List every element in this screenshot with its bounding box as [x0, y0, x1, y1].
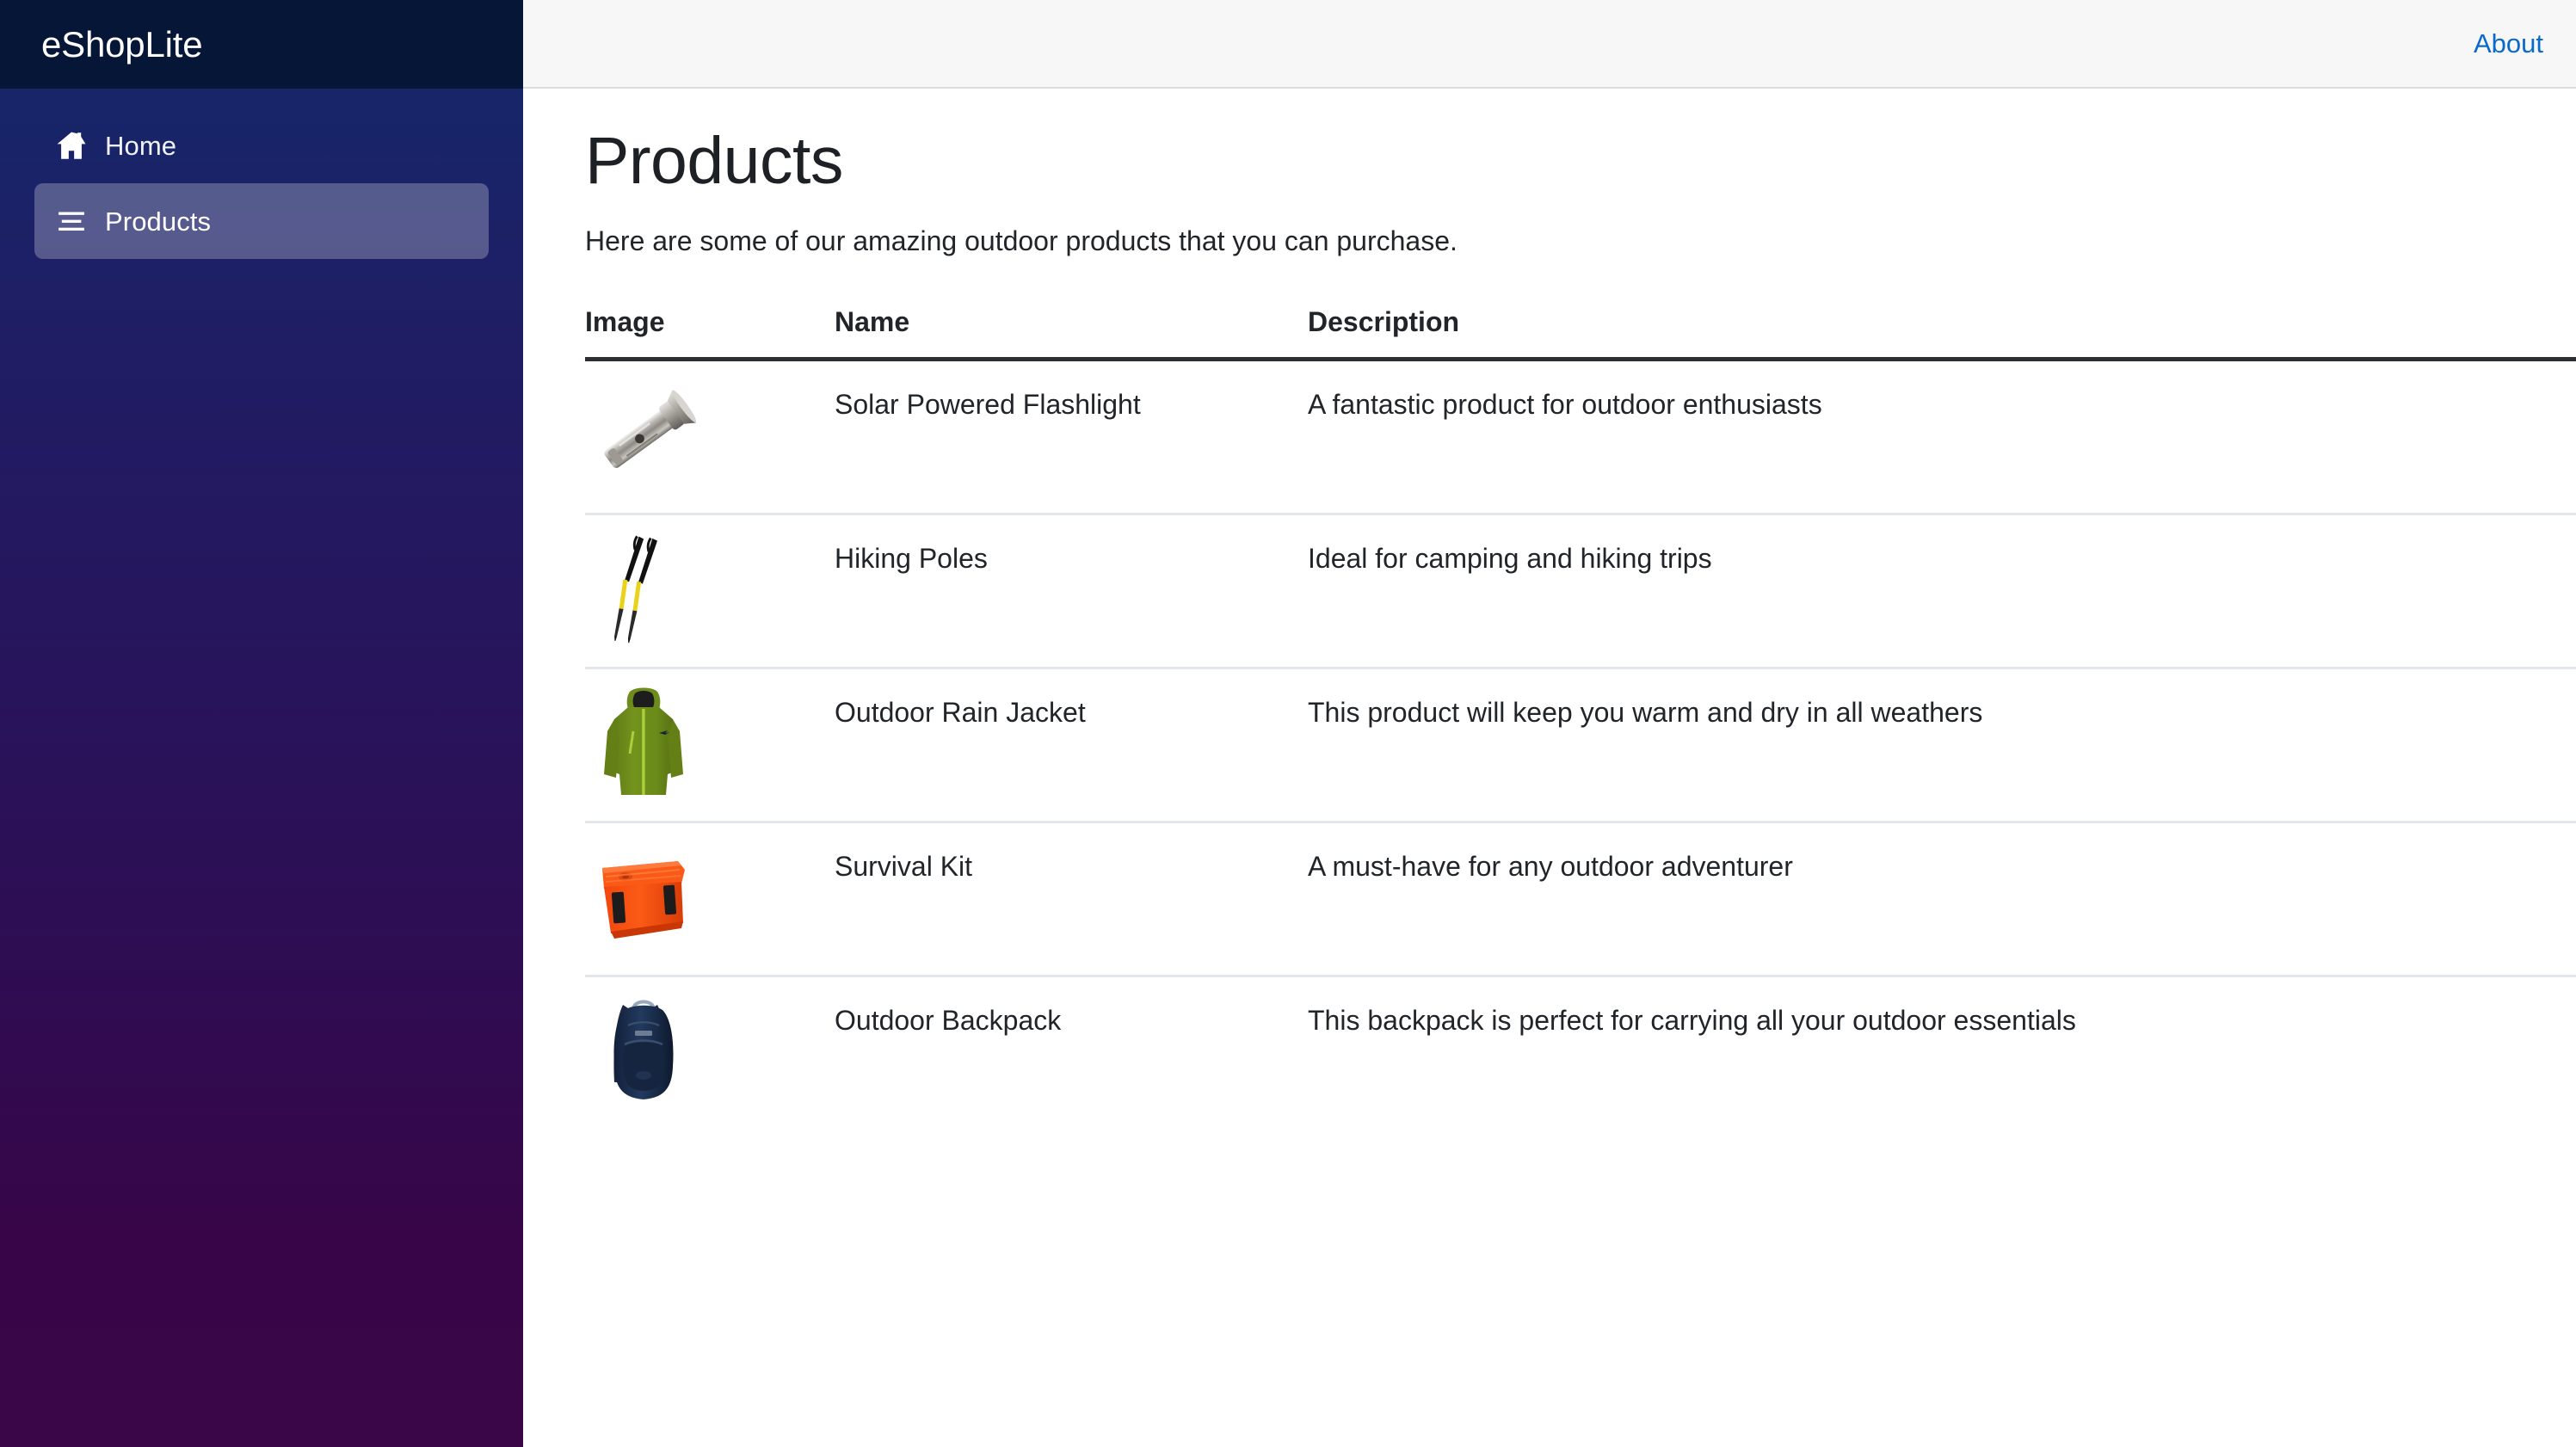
- table-row: Hiking Poles Ideal for camping and hikin…: [585, 514, 2576, 668]
- list-icon: [53, 203, 105, 239]
- product-description: A fantastic product for outdoor enthusia…: [1308, 360, 2576, 514]
- product-image-cell: [585, 822, 835, 976]
- product-description: A must-have for any outdoor adventurer: [1308, 822, 2576, 976]
- outdoor-backpack-image: [585, 993, 702, 1110]
- product-name: Hiking Poles: [835, 514, 1308, 668]
- page-subtitle: Here are some of our amazing outdoor pro…: [585, 222, 2576, 261]
- table-row: Survival Kit A must-have for any outdoor…: [585, 822, 2576, 976]
- table-row: Outdoor Backpack This backpack is perfec…: [585, 976, 2576, 1111]
- page-content: Products Here are some of our amazing ou…: [523, 89, 2576, 1447]
- table-row: Outdoor Rain Jacket This product will ke…: [585, 668, 2576, 822]
- column-header-image: Image: [585, 292, 835, 360]
- column-header-description: Description: [1308, 292, 2576, 360]
- product-image-cell: [585, 514, 835, 668]
- product-name: Solar Powered Flashlight: [835, 360, 1308, 514]
- main-area: About Products Here are some of our amaz…: [523, 0, 2576, 1447]
- home-icon: [53, 127, 105, 163]
- sidebar-item-products[interactable]: Products: [34, 183, 489, 259]
- product-name: Outdoor Rain Jacket: [835, 668, 1308, 822]
- page-title: Products: [585, 123, 2576, 200]
- product-name: Outdoor Backpack: [835, 976, 1308, 1111]
- app-root: eShopLite Home Pro: [0, 0, 2576, 1447]
- survival-kit-image: [585, 839, 702, 956]
- brand-header: eShopLite: [0, 0, 523, 89]
- column-header-name: Name: [835, 292, 1308, 360]
- table-header-row: Image Name Description Price: [585, 292, 2576, 360]
- sidebar-item-home[interactable]: Home: [34, 108, 489, 183]
- table-row: Solar Powered Flashlight A fantastic pro…: [585, 360, 2576, 514]
- products-table: Image Name Description Price: [585, 292, 2576, 1110]
- about-link[interactable]: About: [2474, 30, 2543, 57]
- product-description: This backpack is perfect for carrying al…: [1308, 976, 2576, 1111]
- sidebar-item-label: Home: [105, 132, 176, 159]
- sidebar-item-label: Products: [105, 208, 211, 235]
- product-image-cell: [585, 976, 835, 1111]
- outdoor-rain-jacket-image: [585, 685, 702, 802]
- solar-powered-flashlight-image: [585, 377, 702, 494]
- product-description: Ideal for camping and hiking trips: [1308, 514, 2576, 668]
- top-bar: About: [523, 0, 2576, 89]
- table-body: Solar Powered Flashlight A fantastic pro…: [585, 360, 2576, 1111]
- product-description: This product will keep you warm and dry …: [1308, 668, 2576, 822]
- table-head: Image Name Description Price: [585, 292, 2576, 360]
- sidebar: eShopLite Home Pro: [0, 0, 523, 1447]
- sidebar-nav: Home Products: [0, 89, 523, 259]
- brand-title: eShopLite: [41, 27, 202, 63]
- product-name: Survival Kit: [835, 822, 1308, 976]
- product-image-cell: [585, 360, 835, 514]
- hiking-poles-image: [585, 531, 702, 648]
- product-image-cell: [585, 668, 835, 822]
